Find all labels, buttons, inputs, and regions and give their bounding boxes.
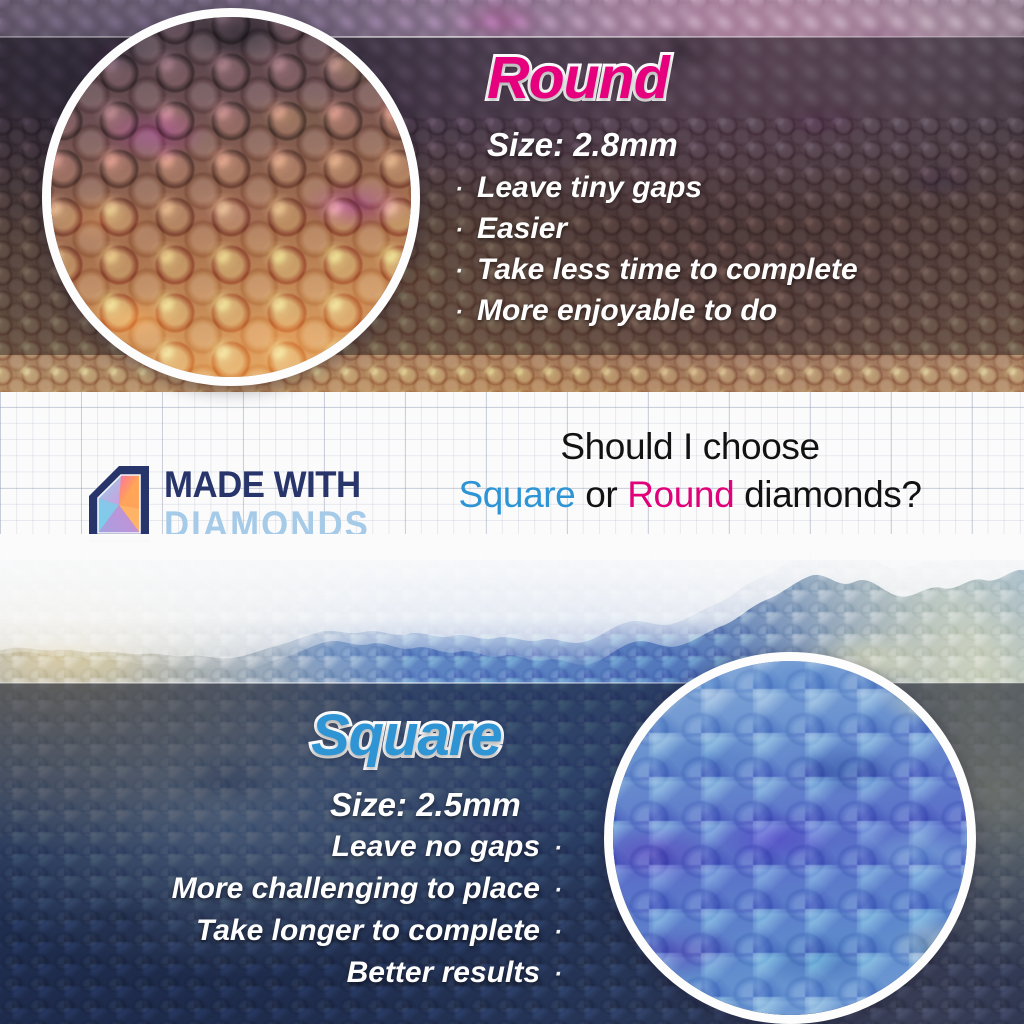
round-diamonds-closeup-inset (42, 8, 420, 386)
infographic-canvas: MADE WITH DIAMONDS Should I choose Squar… (0, 0, 1024, 1024)
list-item: Take longer to complete · (172, 911, 562, 953)
round-bullet-label: Leave tiny gaps (477, 168, 702, 207)
square-bullet-label: Better results (347, 953, 540, 993)
question-line-2: Square or Round diamonds? (430, 470, 950, 520)
question-tail: diamonds? (734, 474, 921, 515)
bullet-icon: · (554, 829, 562, 869)
list-item: · Take less time to complete (455, 250, 858, 291)
bullet-icon: · (455, 211, 463, 250)
square-title: Square (311, 702, 502, 769)
bullet-icon: · (554, 913, 562, 953)
square-bullet-label: Leave no gaps (332, 827, 540, 867)
question-word-square: Square (458, 474, 575, 515)
question-line-1: Should I choose (430, 424, 950, 470)
question-conjunction: or (575, 474, 627, 515)
list-item: · Leave tiny gaps (455, 168, 858, 209)
round-bullet-label: Easier (477, 209, 567, 248)
list-item: · More enjoyable to do (455, 291, 858, 332)
bullet-icon: · (455, 170, 463, 209)
round-benefits-list: · Leave tiny gaps · Easier · Take less t… (455, 168, 858, 332)
square-inset-facets-offset (604, 652, 976, 1024)
round-bullet-label: Take less time to complete (477, 250, 858, 289)
list-item: · Easier (455, 209, 858, 250)
square-benefits-list: Leave no gaps · More challenging to plac… (172, 827, 562, 995)
list-item: Leave no gaps · (172, 827, 562, 869)
round-inset-domes-offset (42, 8, 420, 386)
round-size-label: Size: 2.8mm (487, 126, 678, 164)
round-title: Round (487, 44, 669, 112)
bullet-icon: · (455, 252, 463, 291)
headline-question: Should I choose Square or Round diamonds… (430, 424, 950, 520)
square-diamonds-closeup-inset (604, 652, 976, 1024)
question-word-round: Round (627, 474, 734, 515)
list-item: Better results · (172, 953, 562, 995)
square-bullet-label: Take longer to complete (196, 911, 540, 951)
list-item: More challenging to place · (172, 869, 562, 911)
square-bullet-label: More challenging to place (172, 869, 540, 909)
logo-line-made-with: MADE WITH (164, 466, 370, 503)
bullet-icon: · (554, 871, 562, 911)
logo-wordmark: MADE WITH DIAMONDS (164, 466, 383, 543)
bullet-icon: · (455, 293, 463, 332)
diamond-logo-icon (88, 465, 150, 543)
round-bullet-label: More enjoyable to do (477, 291, 777, 330)
bullet-icon: · (554, 955, 562, 995)
square-size-label: Size: 2.5mm (330, 786, 521, 824)
